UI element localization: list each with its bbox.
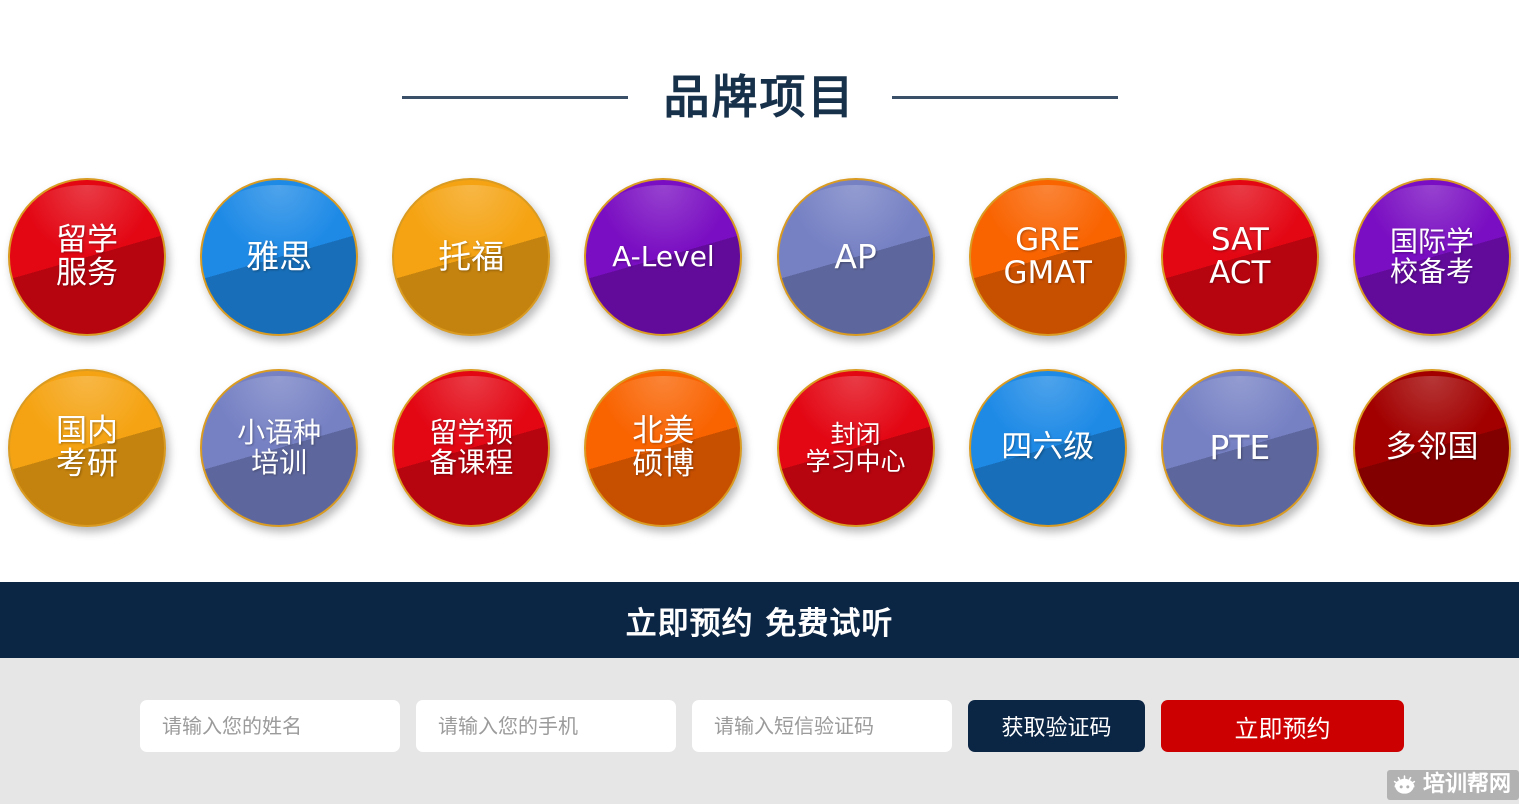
program-bubble-label: 雅思 bbox=[246, 239, 312, 275]
page-title: 品牌项目 bbox=[664, 74, 856, 120]
brand-programs-page: 品牌项目 留学 服务雅思托福A-LevelAPGRE GMATSAT ACT国际… bbox=[0, 0, 1519, 804]
cta-banner-text: 立即预约 免费试听 bbox=[626, 598, 894, 643]
program-bubble-ap[interactable]: AP bbox=[777, 178, 935, 336]
section-header: 品牌项目 bbox=[0, 62, 1519, 132]
watermark-label: 培训帮网 bbox=[1423, 774, 1511, 796]
program-row-2: 国内 考研小语种 培训留学预 备课程北美 硕博封闭 学习中心四六级PTE多邻国 bbox=[0, 369, 1519, 527]
program-bubble-sat-act[interactable]: SAT ACT bbox=[1161, 178, 1319, 336]
program-bubble-guoji-xuexiao-beikao[interactable]: 国际学 校备考 bbox=[1353, 178, 1511, 336]
program-bubble-label: SAT ACT bbox=[1209, 224, 1270, 291]
program-bubble-guonei-kaoyan[interactable]: 国内 考研 bbox=[8, 369, 166, 527]
sms-code-input[interactable] bbox=[692, 700, 952, 752]
program-bubble-label: 封闭 学习中心 bbox=[806, 421, 906, 475]
program-bubble-label: 四六级 bbox=[1001, 431, 1094, 464]
program-row-1: 留学 服务雅思托福A-LevelAPGRE GMATSAT ACT国际学 校备考 bbox=[0, 178, 1519, 336]
program-bubble-liuxue-fuwu[interactable]: 留学 服务 bbox=[8, 178, 166, 336]
appointment-form-section: 获取验证码 立即预约 bbox=[0, 658, 1519, 804]
program-bubble-toefl[interactable]: 托福 bbox=[392, 178, 550, 336]
program-bubble-liuxue-yubei-kecheng[interactable]: 留学预 备课程 bbox=[392, 369, 550, 527]
get-code-button[interactable]: 获取验证码 bbox=[968, 700, 1145, 752]
program-bubble-label: PTE bbox=[1209, 430, 1270, 466]
phone-input[interactable] bbox=[416, 700, 676, 752]
sun-eye-icon bbox=[1393, 775, 1416, 796]
site-watermark: 培训帮网 bbox=[1387, 770, 1519, 800]
program-bubble-label: 托福 bbox=[438, 239, 504, 275]
program-bubble-label: 留学 服务 bbox=[56, 224, 118, 291]
header-rule-left bbox=[402, 96, 628, 99]
program-bubble-label: 留学预 备课程 bbox=[429, 418, 513, 478]
program-bubble-a-level[interactable]: A-Level bbox=[584, 178, 742, 336]
program-bubble-duolingguo[interactable]: 多邻国 bbox=[1353, 369, 1511, 527]
program-bubble-label: AP bbox=[834, 239, 876, 275]
program-bubble-silu-ji[interactable]: 四六级 bbox=[969, 369, 1127, 527]
program-bubble-pte[interactable]: PTE bbox=[1161, 369, 1319, 527]
program-bubble-gre-gmat[interactable]: GRE GMAT bbox=[969, 178, 1127, 336]
program-bubble-label: 多邻国 bbox=[1385, 431, 1478, 464]
submit-appointment-button[interactable]: 立即预约 bbox=[1161, 700, 1404, 752]
program-bubble-label: A-Level bbox=[612, 242, 715, 272]
appointment-form: 获取验证码 立即预约 bbox=[140, 700, 1404, 752]
program-bubble-label: 国际学 校备考 bbox=[1390, 227, 1474, 287]
program-bubble-label: GRE GMAT bbox=[1003, 224, 1092, 291]
header-rule-right bbox=[892, 96, 1118, 99]
program-bubble-ielts[interactable]: 雅思 bbox=[200, 178, 358, 336]
name-input[interactable] bbox=[140, 700, 400, 752]
program-bubble-beimei-shuobo[interactable]: 北美 硕博 bbox=[584, 369, 742, 527]
program-bubble-xiaoyuzhong-peixun[interactable]: 小语种 培训 bbox=[200, 369, 358, 527]
program-bubble-label: 北美 硕博 bbox=[632, 415, 694, 482]
program-grid: 留学 服务雅思托福A-LevelAPGRE GMATSAT ACT国际学 校备考… bbox=[0, 178, 1519, 527]
program-bubble-fengbi-xuexi-zhongxin[interactable]: 封闭 学习中心 bbox=[777, 369, 935, 527]
cta-banner: 立即预约 免费试听 bbox=[0, 582, 1519, 658]
program-bubble-label: 国内 考研 bbox=[56, 415, 118, 482]
program-bubble-label: 小语种 培训 bbox=[237, 418, 321, 478]
